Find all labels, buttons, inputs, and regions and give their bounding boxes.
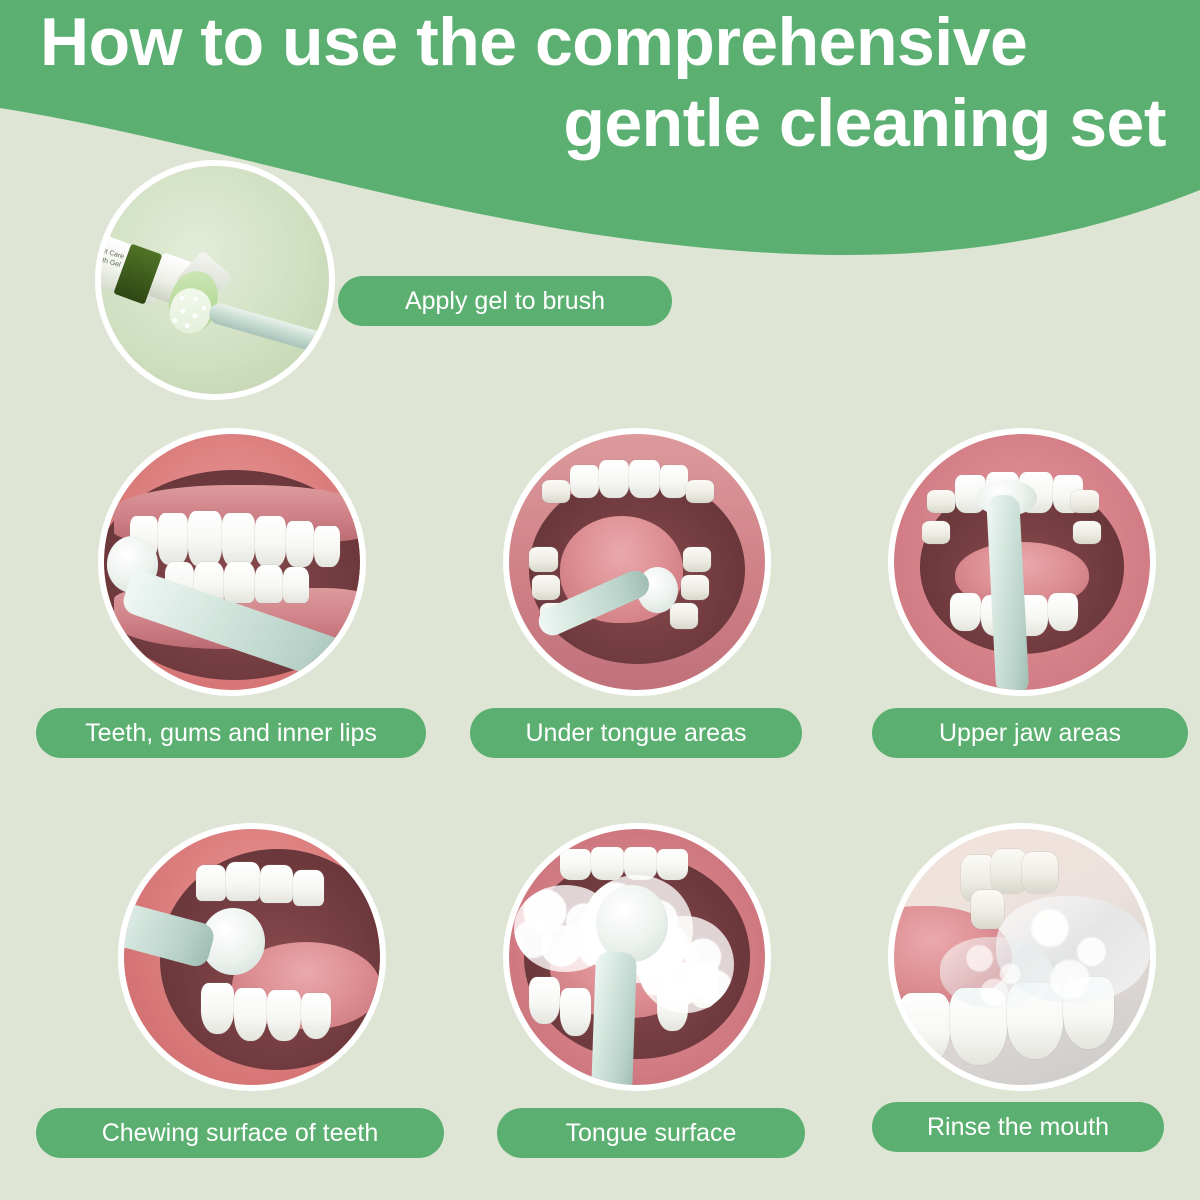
- molar: [670, 603, 698, 629]
- step-6-label-pill[interactable]: Tongue surface: [497, 1108, 805, 1158]
- step-2-photo: [98, 428, 366, 696]
- tooth: [660, 465, 688, 498]
- step-1-label-text: Apply gel to brush: [405, 287, 605, 316]
- step-4-label-text: Upper jaw areas: [939, 719, 1121, 748]
- step-5-photo: [118, 823, 386, 1091]
- step-1-label-pill[interactable]: Apply gel to brush: [338, 276, 672, 326]
- molar: [683, 547, 711, 573]
- step-1-photo: Fruit Care Teeth Gel: [95, 160, 335, 400]
- tooth: [286, 521, 314, 567]
- under-tongue-scene: [509, 434, 765, 690]
- title-line-2: gentle cleaning set: [40, 89, 1172, 158]
- step-2-label-pill[interactable]: Teeth, gums and inner lips: [36, 708, 426, 758]
- tooth: [226, 862, 259, 900]
- gel-application-scene: Fruit Care Teeth Gel: [101, 166, 329, 394]
- step-6-label-text: Tongue surface: [566, 1119, 737, 1148]
- tooth: [255, 516, 286, 567]
- brush-handle: [207, 301, 329, 359]
- tooth: [950, 593, 981, 631]
- step-3-label-pill[interactable]: Under tongue areas: [470, 708, 802, 758]
- molar: [1071, 490, 1099, 513]
- molar: [927, 490, 955, 513]
- step-3-photo: [503, 428, 771, 696]
- molar: [922, 521, 950, 544]
- tongue-surface-scene: [509, 829, 765, 1085]
- chewing-surface-scene: [124, 829, 380, 1085]
- step-3-label-text: Under tongue areas: [526, 719, 747, 748]
- tooth: [629, 460, 660, 498]
- rinse-mouth-scene: [894, 829, 1150, 1085]
- tooth: [283, 567, 309, 603]
- title-line-1: How to use the comprehensive: [40, 8, 1172, 77]
- molar: [971, 890, 1004, 928]
- tooth: [657, 849, 688, 880]
- step-7-label-text: Rinse the mouth: [927, 1113, 1109, 1142]
- molar: [1073, 521, 1101, 544]
- tooth: [560, 988, 591, 1037]
- tooth: [224, 562, 255, 603]
- tooth: [267, 990, 300, 1041]
- brush-tip: [596, 885, 668, 962]
- step-5-label-text: Chewing surface of teeth: [102, 1119, 379, 1148]
- molar: [532, 575, 560, 601]
- water-splash: [940, 937, 1053, 1009]
- tooth: [529, 977, 560, 1023]
- molar: [529, 547, 557, 573]
- tooth: [201, 983, 234, 1034]
- tooth: [293, 870, 324, 906]
- step-5-label-pill[interactable]: Chewing surface of teeth: [36, 1108, 444, 1158]
- molar: [1022, 852, 1058, 893]
- tooth: [560, 849, 591, 880]
- step-7-label-pill[interactable]: Rinse the mouth: [872, 1102, 1164, 1152]
- step-7-photo: [888, 823, 1156, 1091]
- tooth: [301, 993, 332, 1039]
- molar: [681, 575, 709, 601]
- molar: [686, 480, 714, 503]
- tooth: [234, 988, 267, 1042]
- teeth-gums-lips-scene: [104, 434, 360, 690]
- step-6-photo: [503, 823, 771, 1091]
- tooth: [314, 526, 340, 567]
- tooth: [599, 460, 630, 498]
- tooth: [188, 511, 221, 567]
- tooth: [570, 465, 598, 498]
- silicone-brush: [164, 281, 329, 367]
- brush-wand: [591, 951, 637, 1085]
- page-title: How to use the comprehensive gentle clea…: [0, 0, 1200, 159]
- step-4-photo: [888, 428, 1156, 696]
- molar: [542, 480, 570, 503]
- tooth: [196, 865, 227, 901]
- tooth: [591, 847, 624, 880]
- tooth: [255, 565, 283, 603]
- tooth: [1048, 593, 1079, 631]
- step-2-label-text: Teeth, gums and inner lips: [85, 719, 377, 748]
- step-4-label-pill[interactable]: Upper jaw areas: [872, 708, 1188, 758]
- tooth: [222, 513, 255, 567]
- tooth: [899, 993, 950, 1065]
- tooth: [260, 865, 293, 903]
- tooth: [158, 513, 189, 564]
- upper-jaw-scene: [894, 434, 1150, 690]
